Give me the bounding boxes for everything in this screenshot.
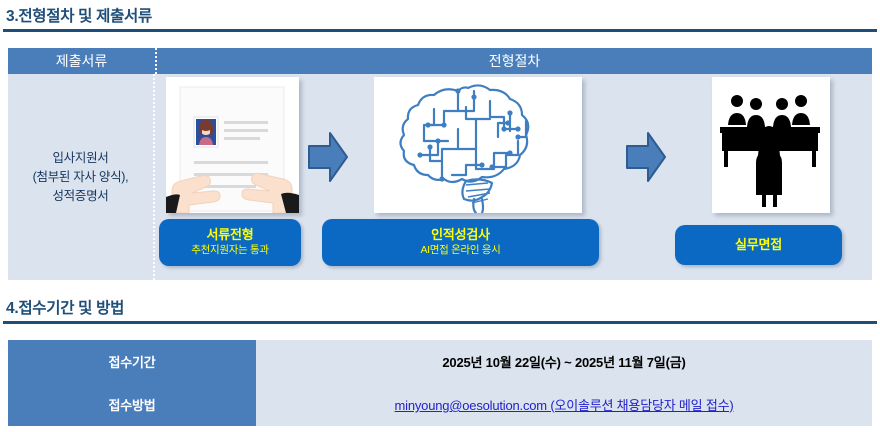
section-heading-process: 3.전형절차 및 제출서류 [0, 4, 880, 32]
resume-hands-svg [166, 77, 299, 213]
section-4-title: 4.접수기간 및 방법 [0, 296, 880, 318]
process-table-body-row: 입사지원서 (첨부된 자사 양식), 성적증명서 [8, 74, 872, 280]
stage-1-label: 서류전형 [206, 227, 253, 243]
stage-label-document-screening: 서류전형 추천지원자는 통과 [159, 219, 301, 266]
documents-cell: 입사지원서 (첨부된 자사 양식), 성적증명서 [8, 74, 155, 280]
process-flow-cell: 서류전형 추천지원자는 통과 [155, 74, 872, 280]
slide-page: 3.전형절차 및 제출서류 제출서류 전형절차 입사지원서 (첨부된 자사 양식… [0, 0, 880, 432]
interview-panel-svg [712, 77, 830, 213]
header-cell-documents: 제출서류 [8, 48, 157, 74]
stage-document-screening: 서류전형 추천지원자는 통과 [163, 77, 301, 266]
apply-table: 접수기간 접수방법 2025년 10월 22일(수) ~ 2025년 11월 7… [8, 340, 872, 426]
apply-value-period: 2025년 10월 22일(수) ~ 2025년 11월 7일(금) [256, 340, 872, 383]
application-email-link[interactable]: minyoung@oesolution.com (오이솔루션 채용담당자 메일 … [395, 395, 734, 414]
stage-aptitude-test: 인적성검사 AI면접 온라인 응시 [357, 77, 599, 266]
stage-2-label: 인적성검사 [431, 227, 490, 243]
ai-brain-svg [374, 77, 582, 213]
stage-3-label: 실무면접 [735, 237, 782, 253]
section-4-divider [3, 321, 877, 324]
documents-text: 입사지원서 (첨부된 자사 양식), 성적증명서 [33, 149, 129, 206]
apply-label-period: 접수기간 [8, 340, 256, 383]
header-cell-process: 전형절차 [157, 48, 872, 74]
section-3-divider [3, 29, 877, 32]
section-heading-apply: 4.접수기간 및 방법 [0, 296, 880, 324]
documents-line-3: 성적증명서 [33, 187, 129, 206]
stage-label-practical-interview: 실무면접 [675, 225, 842, 265]
documents-line-1: 입사지원서 [33, 149, 129, 168]
arrow-right-icon [307, 129, 349, 185]
interview-panel-silhouette-illustration [712, 77, 830, 213]
section-3-title: 3.전형절차 및 제출서류 [0, 4, 880, 26]
process-table-header-row: 제출서류 전형절차 [8, 48, 872, 74]
apply-value-column: 2025년 10월 22일(수) ~ 2025년 11월 7일(금) minyo… [256, 340, 872, 426]
process-table: 제출서류 전형절차 입사지원서 (첨부된 자사 양식), 성적증명서 [8, 48, 872, 280]
stage-practical-interview: 실무면접 [691, 77, 842, 265]
documents-line-2: (첨부된 자사 양식), [33, 168, 129, 187]
resume-in-hands-illustration [166, 77, 299, 213]
stage-label-aptitude-test: 인적성검사 AI면접 온라인 응시 [322, 219, 599, 266]
stage-2-sublabel: AI면접 온라인 응시 [420, 243, 500, 258]
apply-label-column: 접수기간 접수방법 [8, 340, 256, 426]
apply-value-method: minyoung@oesolution.com (오이솔루션 채용담당자 메일 … [256, 383, 872, 426]
stage-1-sublabel: 추천지원자는 통과 [191, 243, 269, 258]
ai-circuit-brain-illustration [374, 77, 582, 213]
apply-label-method: 접수방법 [8, 383, 256, 426]
arrow-right-icon [625, 129, 667, 185]
